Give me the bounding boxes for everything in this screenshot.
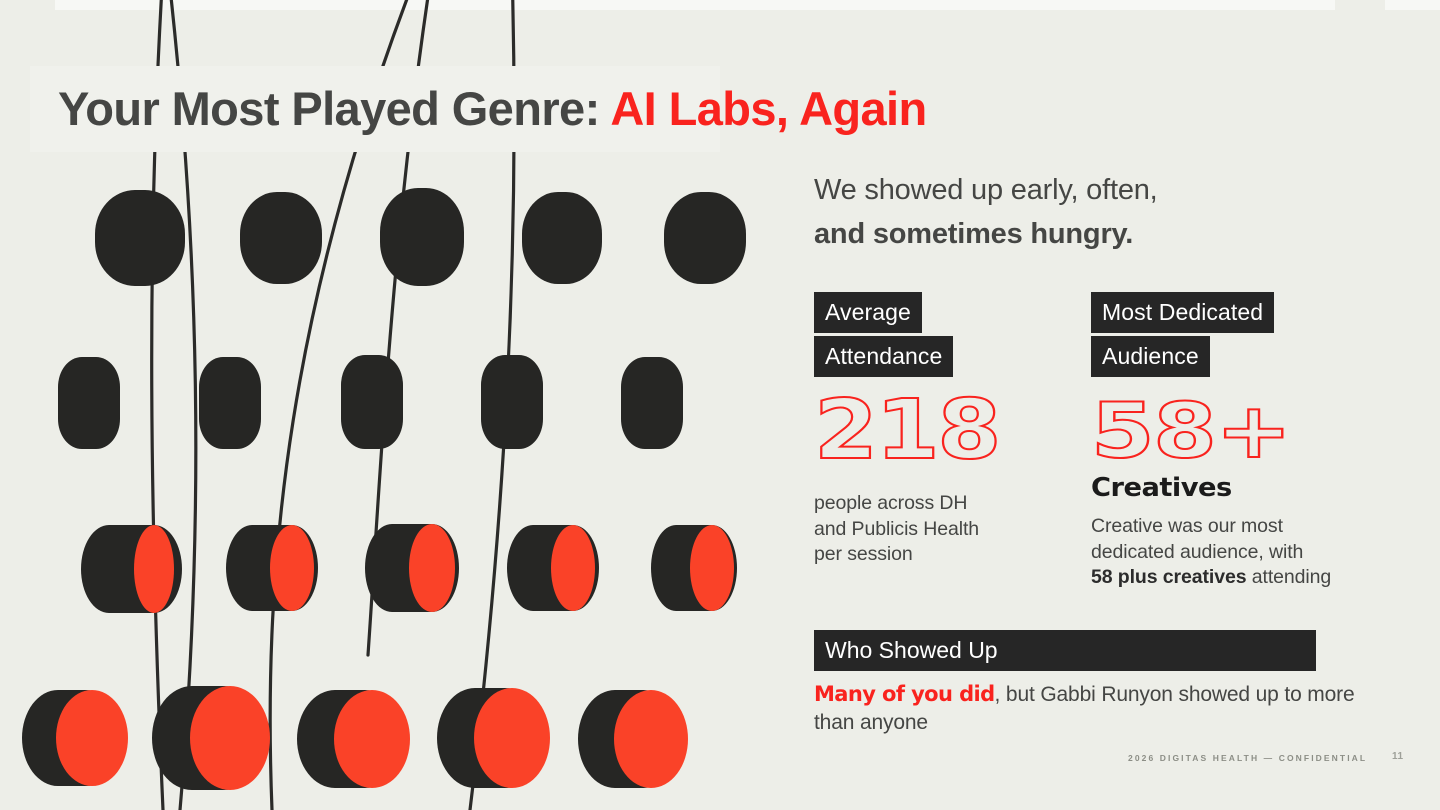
stat-body-line-2: dedicated audience, with: [1091, 541, 1303, 563]
who-showed-up-text: Many of you did, but Gabbi Runyon showed…: [814, 680, 1374, 737]
who-showed-up-highlight: Many of you did: [814, 682, 995, 706]
top-edge-strip-right: [1385, 0, 1440, 10]
stat-card-average-attendance: Average Attendance 218 people across DH …: [814, 292, 1064, 568]
stat-label-stack: Average Attendance: [814, 292, 1064, 377]
page-number: 11: [1392, 751, 1404, 762]
disc-row-3: [81, 524, 737, 613]
stat-label-line-2: Audience: [1091, 336, 1210, 377]
stat-body-line-3: per session: [814, 543, 913, 565]
lede-line-2: and sometimes hungry.: [814, 218, 1133, 250]
footer-confidential-notice: 2026 DIGITAS HEALTH — CONFIDENTIAL: [1128, 753, 1367, 763]
stat-label-stack: Most Dedicated Audience: [1091, 292, 1371, 377]
stat-value-218: 218: [814, 389, 1094, 473]
stat-label-line-2: Attendance: [814, 336, 953, 377]
page-title: Your Most Played Genre: AI Labs, Again: [58, 76, 927, 142]
stat-sublabel-creatives: Creatives: [1091, 475, 1385, 502]
stat-card-most-dedicated-audience: Most Dedicated Audience 58+ Creatives Cr…: [1091, 292, 1371, 591]
stat-body-line-2: and Publicis Health: [814, 518, 979, 540]
lede-paragraph: We showed up early, often, and sometimes…: [814, 168, 1374, 256]
stat-body-strong: 58 plus creatives: [1091, 566, 1246, 588]
who-showed-up-banner: Who Showed Up: [814, 630, 1316, 671]
title-accent-text: AI Labs, Again: [610, 82, 926, 135]
stat-value-58plus: 58+: [1091, 389, 1427, 473]
stat-body-tail: attending: [1246, 566, 1331, 588]
who-showed-up-block: Who Showed Up Many of you did, but Gabbi…: [814, 630, 1374, 737]
stat-body-line-1: people across DH: [814, 492, 967, 514]
stats-row: Average Attendance 218 people across DH …: [814, 292, 1384, 602]
stat-body-text: Creative was our most dedicated audience…: [1091, 514, 1371, 591]
lede-block: We showed up early, often, and sometimes…: [814, 168, 1374, 256]
stat-body-line-1: Creative was our most: [1091, 515, 1283, 537]
stat-body-text: people across DH and Publicis Health per…: [814, 491, 1064, 568]
stat-label-line-1: Most Dedicated: [1091, 292, 1274, 333]
disc-row-4: [22, 686, 688, 790]
lede-line-1: We showed up early, often,: [814, 174, 1158, 206]
slide-root: Your Most Played Genre: AI Labs, Again W…: [0, 0, 1440, 810]
stat-label-line-1: Average: [814, 292, 922, 333]
title-main-text: Your Most Played Genre:: [58, 82, 600, 135]
